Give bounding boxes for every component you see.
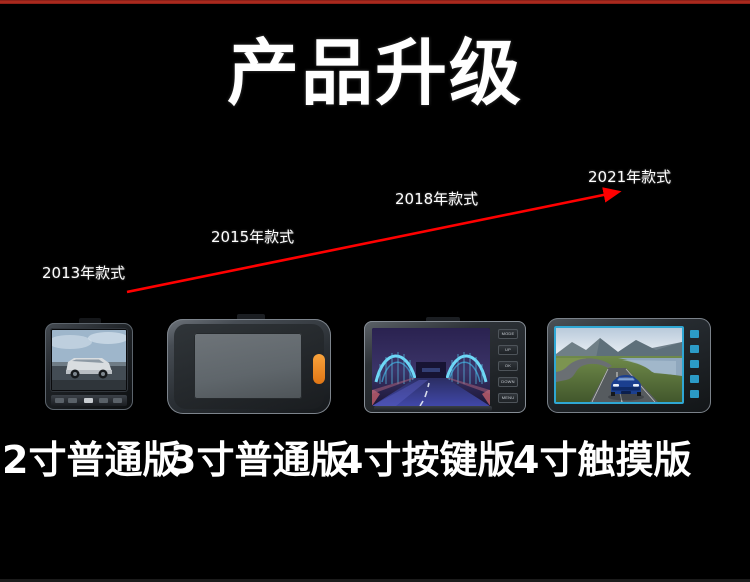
caption-4inch-button: 4寸按键版 <box>337 437 515 483</box>
touch-icon-playback[interactable] <box>690 360 699 368</box>
device-4inch-button[interactable]: MODE UP OK DOWN MENU <box>364 317 526 413</box>
device-key[interactable] <box>99 398 108 403</box>
screen-image-blue-sedan-mountain <box>556 328 682 402</box>
timeline-year-2013: 2013年款式 <box>42 264 125 283</box>
device-screen-frame <box>554 326 684 404</box>
product-upgrade-banner: 产品升级 2013年款式 2015年款式 2018年款式 2021年款式 <box>0 0 750 582</box>
device-key[interactable] <box>55 398 64 403</box>
top-accent-rule <box>0 0 750 4</box>
screen-image-silver-suv <box>52 330 126 390</box>
device-screen-2inch <box>52 330 126 390</box>
touch-icon-settings[interactable] <box>690 375 699 383</box>
device-key[interactable] <box>84 398 93 403</box>
caption-row: 2寸普通版 3寸普通版 4寸按键版 4寸触摸版 <box>0 437 750 485</box>
caption-4inch-touch: 4寸触摸版 <box>513 437 691 483</box>
device-touch-icons[interactable] <box>688 328 702 402</box>
device-2inch-standard[interactable] <box>45 318 133 410</box>
device-inner-shell <box>174 324 324 409</box>
key-up[interactable]: UP <box>498 345 518 355</box>
device-body: MODE UP OK DOWN MENU <box>364 321 526 413</box>
timeline-year-2021: 2021年款式 <box>588 168 671 187</box>
touch-icon-photo[interactable] <box>690 345 699 353</box>
touch-icon-lock[interactable] <box>690 390 699 398</box>
device-3inch-standard[interactable] <box>167 314 331 414</box>
device-keypad[interactable]: MODE UP OK DOWN MENU <box>498 329 518 407</box>
key-ok[interactable]: OK <box>498 361 518 371</box>
device-4inch-touch[interactable] <box>547 315 711 413</box>
caption-3inch-standard: 3寸普通版 <box>170 437 348 483</box>
key-down[interactable]: DOWN <box>498 377 518 387</box>
device-key[interactable] <box>113 398 122 403</box>
screen-image-bridge-night <box>372 328 490 406</box>
device-screen-4inch-button <box>372 328 490 406</box>
touch-icon-record[interactable] <box>690 330 699 338</box>
caption-2inch-standard: 2寸普通版 <box>2 437 180 483</box>
device-body <box>547 318 711 413</box>
timeline-year-2018: 2018年款式 <box>395 190 478 209</box>
device-bezel <box>50 328 128 392</box>
key-mode[interactable]: MODE <box>498 329 518 339</box>
device-orange-button[interactable] <box>313 354 325 384</box>
page-title: 产品升级 <box>0 33 750 113</box>
device-screen-3inch <box>194 333 302 399</box>
top-accent-rule-inner <box>0 1 750 3</box>
device-key[interactable] <box>68 398 77 403</box>
device-screen-4inch-touch <box>556 328 682 402</box>
key-menu[interactable]: MENU <box>498 393 518 403</box>
device-bottom-bar <box>374 406 492 411</box>
timeline-year-2015: 2015年款式 <box>211 228 294 247</box>
device-body <box>45 323 133 410</box>
device-row: MODE UP OK DOWN MENU <box>0 300 750 425</box>
device-button-strip[interactable] <box>51 395 127 406</box>
device-body <box>167 319 331 414</box>
